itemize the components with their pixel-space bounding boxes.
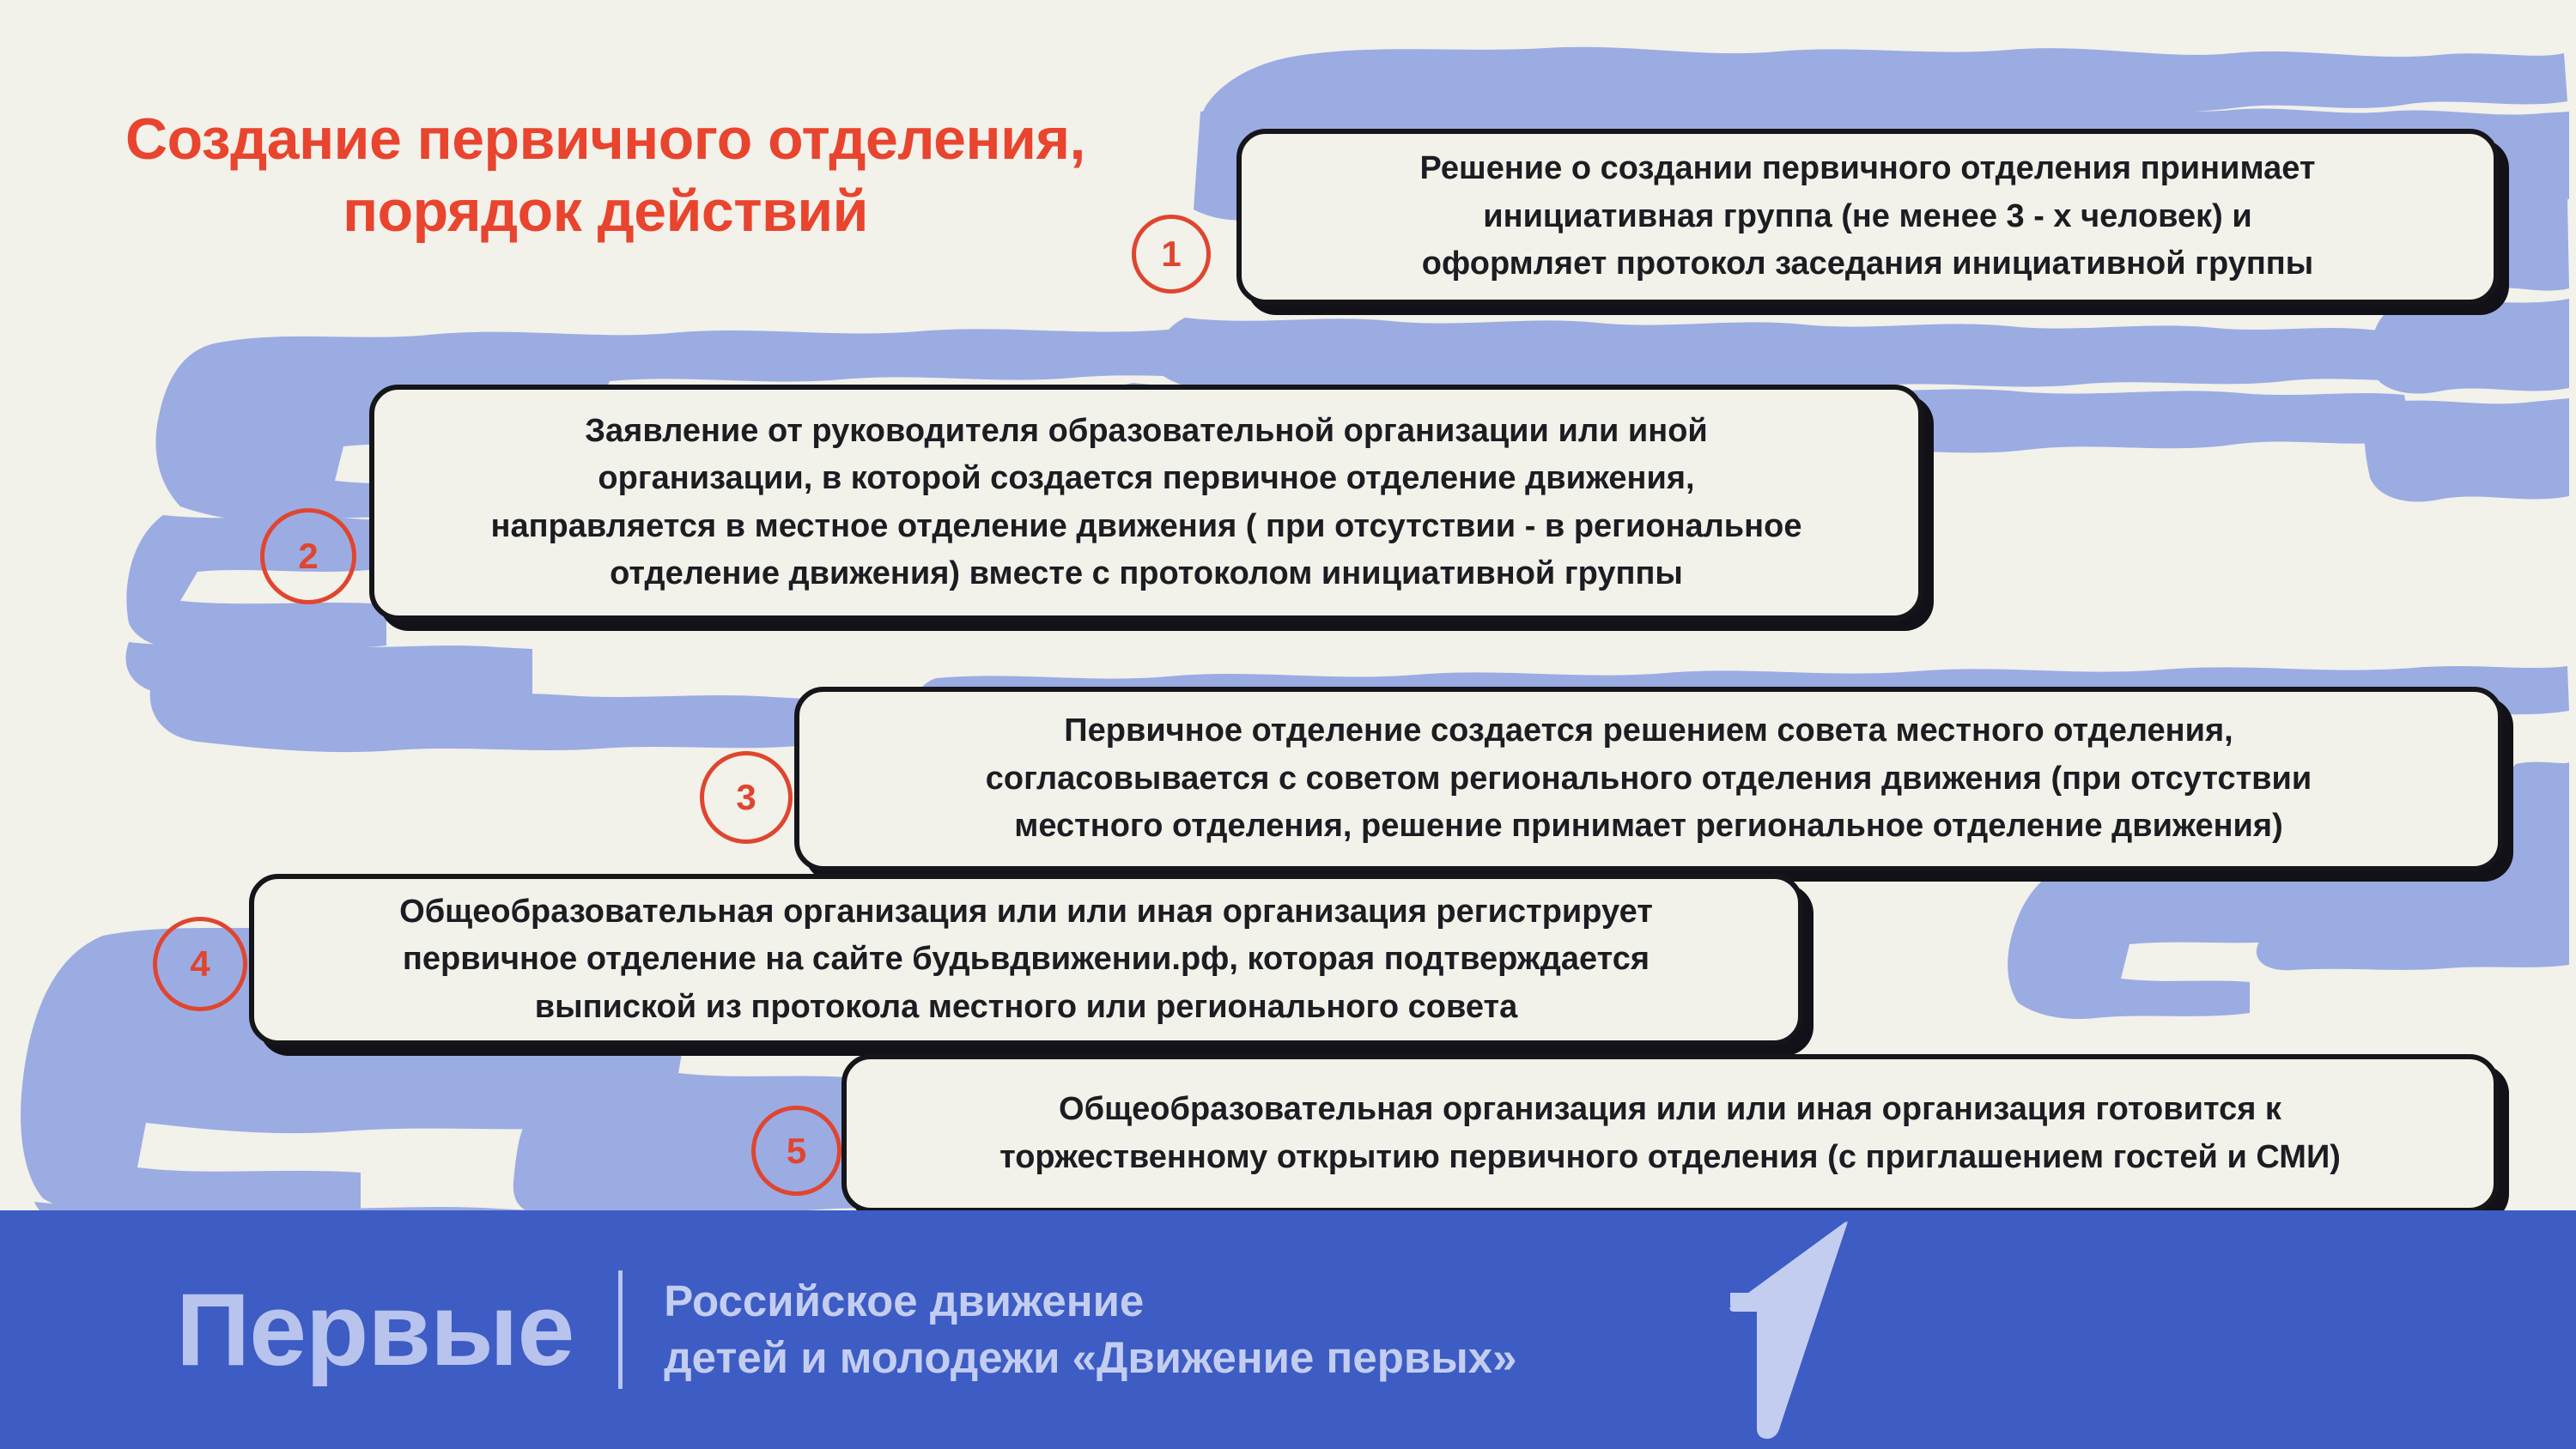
brush-stroke-mid-left-c (126, 642, 532, 702)
step-box-4: Общеобразовательная организация или или … (249, 874, 1803, 1046)
footer-brand-block: Первые Российское движение детей и молод… (176, 1210, 1517, 1449)
step-number-label-3: 3 (736, 777, 756, 818)
brush-stroke-right-box3 (2493, 762, 2569, 870)
step-text-5: Общеобразовательная организация или или … (847, 1086, 2494, 1181)
infographic-poster: Создание первичного отделения, порядок д… (0, 0, 2576, 1449)
step-box-3: Первичное отделение создается решением с… (794, 687, 2503, 871)
brush-stroke-mid-left-d (150, 688, 807, 752)
footer-bar: Первые Российское движение детей и молод… (0, 1210, 2576, 1449)
step-text-1: Решение о создании первичного отделения … (1242, 145, 2494, 288)
brand-name: Первые (176, 1278, 618, 1381)
step-number-badge-3: 3 (700, 751, 793, 844)
step-text-3: Первичное отделение создается решением с… (799, 707, 2498, 850)
step-box-2: Заявление от руководителя образовательно… (369, 385, 1923, 621)
page-title-line-2: порядок действий (77, 175, 1133, 247)
brush-stroke-under-box3 (2008, 853, 2569, 1019)
brand-divider (618, 1270, 623, 1389)
brand-tagline: Российское движение детей и молодежи «Дв… (664, 1273, 1516, 1387)
step-number-badge-2: 2 (260, 508, 356, 604)
brush-stroke-under-box3-b (2257, 931, 2569, 970)
arrow-one-logo-icon (1679, 1210, 1876, 1449)
step-number-label-4: 4 (190, 943, 210, 985)
page-title-line-1: Создание первичного отделения, (77, 103, 1133, 175)
step-number-label-2: 2 (298, 536, 318, 577)
page-title: Создание первичного отделения, порядок д… (77, 103, 1133, 248)
step-number-label-5: 5 (787, 1131, 806, 1172)
brush-stroke-top (1202, 47, 2567, 125)
step-number-badge-4: 4 (153, 917, 247, 1011)
step-number-badge-5: 5 (751, 1106, 841, 1196)
step-number-label-1: 1 (1161, 233, 1181, 275)
brush-stroke-right-1 (2370, 299, 2569, 394)
step-text-2: Заявление от руководителя образовательно… (374, 408, 1918, 598)
brush-stroke-right-2 (2365, 398, 2569, 501)
step-text-4: Общеобразовательная организация или или … (254, 888, 1798, 1031)
step-number-badge-1: 1 (1132, 215, 1211, 294)
step-box-5: Общеобразовательная организация или или … (841, 1054, 2499, 1213)
step-box-1: Решение о создании первичного отделения … (1236, 129, 2499, 305)
brush-stroke-below-box1 (1157, 318, 2464, 392)
